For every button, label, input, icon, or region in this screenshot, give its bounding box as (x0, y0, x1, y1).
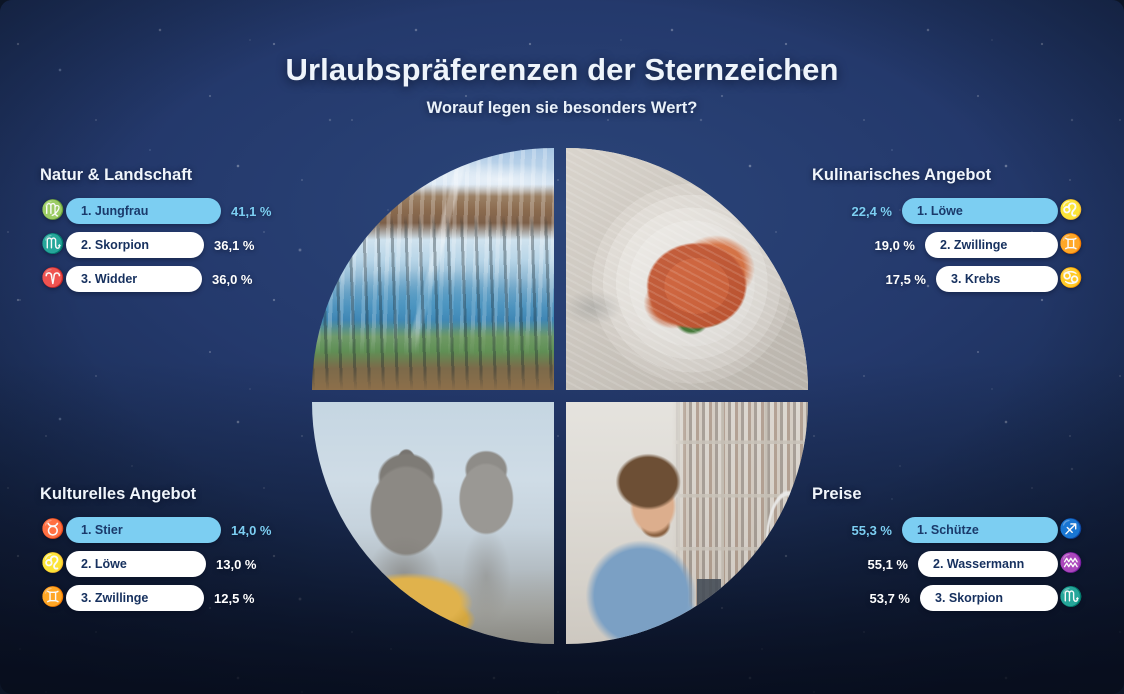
rank-percentage: 53,7 % (854, 591, 910, 606)
panel-title: Kulturelles Angebot (40, 485, 312, 504)
rank-percentage: 14,0 % (231, 523, 287, 538)
ranking-row[interactable]: ♌ 1. Löwe 22,4 % (836, 198, 1084, 224)
rank-pill[interactable]: 1. Jungfrau (66, 198, 221, 224)
taurus-icon: ♉ (40, 517, 66, 543)
panel-title: Preise (812, 485, 1084, 504)
price-photo (566, 402, 808, 644)
page-title: Urlaubspräferenzen der Sternzeichen (0, 52, 1124, 88)
rank-pill[interactable]: 3. Widder (66, 266, 202, 292)
ranking-list: ♉ 1. Stier 14,0 % ♌ 2. Löwe 13,0 % ♊ 3. … (40, 517, 312, 611)
rank-pill[interactable]: 3. Krebs (936, 266, 1058, 292)
panel-title: Natur & Landschaft (40, 166, 312, 185)
rank-percentage: 36,0 % (212, 272, 268, 287)
rank-pill[interactable]: 2. Zwillinge (925, 232, 1058, 258)
ranking-list: ♌ 1. Löwe 22,4 % ♊ 2. Zwillinge 19,0 % ♋… (812, 198, 1084, 292)
gemini-icon: ♊ (40, 585, 66, 611)
rank-percentage: 41,1 % (231, 204, 287, 219)
food-photo-image (566, 148, 808, 390)
ranking-row[interactable]: ♐ 1. Schütze 55,3 % (836, 517, 1084, 543)
gemini-icon: ♊ (1058, 232, 1084, 258)
aquarius-icon: ♒ (1058, 551, 1084, 577)
food-photo (566, 148, 808, 390)
rank-pill[interactable]: 1. Schütze (902, 517, 1058, 543)
leo-icon: ♌ (40, 551, 66, 577)
rank-percentage: 19,0 % (859, 238, 915, 253)
center-photo-collage (312, 148, 808, 644)
ranking-row[interactable]: ♊ 2. Zwillinge 19,0 % (859, 232, 1084, 258)
rank-percentage: 55,1 % (852, 557, 908, 572)
rank-percentage: 55,3 % (836, 523, 892, 538)
nature-photo (312, 148, 554, 390)
ranking-row[interactable]: ♋ 3. Krebs 17,5 % (870, 266, 1084, 292)
culture-photo (312, 402, 554, 644)
ranking-row[interactable]: ♏ 3. Skorpion 53,7 % (854, 585, 1084, 611)
ranking-row[interactable]: ♍ 1. Jungfrau 41,1 % (40, 198, 287, 224)
cancer-icon: ♋ (1058, 266, 1084, 292)
rank-percentage: 17,5 % (870, 272, 926, 287)
panel-preise: Preise ♐ 1. Schütze 55,3 % ♒ 2. Wasserma… (812, 485, 1084, 611)
scorpio-icon: ♏ (40, 232, 66, 258)
ranking-row[interactable]: ♒ 2. Wassermann 55,1 % (852, 551, 1084, 577)
rank-pill[interactable]: 2. Löwe (66, 551, 206, 577)
rank-pill[interactable]: 1. Stier (66, 517, 221, 543)
header: Urlaubspräferenzen der Sternzeichen Wora… (0, 52, 1124, 118)
panel-title: Kulinarisches Angebot (812, 166, 1084, 185)
aries-icon: ♈ (40, 266, 66, 292)
ranking-row[interactable]: ♌ 2. Löwe 13,0 % (40, 551, 272, 577)
ranking-row[interactable]: ♊ 3. Zwillinge 12,5 % (40, 585, 270, 611)
panel-kulturelles-angebot: Kulturelles Angebot ♉ 1. Stier 14,0 % ♌ … (40, 485, 312, 611)
panel-kulinarisches-angebot: Kulinarisches Angebot ♌ 1. Löwe 22,4 % ♊… (812, 166, 1084, 292)
sagittarius-icon: ♐ (1058, 517, 1084, 543)
rank-pill[interactable]: 2. Wassermann (918, 551, 1058, 577)
rank-percentage: 22,4 % (836, 204, 892, 219)
rank-pill[interactable]: 2. Skorpion (66, 232, 204, 258)
price-photo-image (566, 402, 808, 644)
virgo-icon: ♍ (40, 198, 66, 224)
panel-natur-landschaft: Natur & Landschaft ♍ 1. Jungfrau 41,1 % … (40, 166, 312, 292)
rank-percentage: 12,5 % (214, 591, 270, 606)
ranking-row[interactable]: ♉ 1. Stier 14,0 % (40, 517, 287, 543)
ranking-list: ♍ 1. Jungfrau 41,1 % ♏ 2. Skorpion 36,1 … (40, 198, 312, 292)
page-subtitle: Worauf legen sie besonders Wert? (0, 99, 1124, 118)
scorpio-icon: ♏ (1058, 585, 1084, 611)
culture-photo-image (312, 402, 554, 644)
infographic-canvas: Urlaubspräferenzen der Sternzeichen Wora… (0, 0, 1124, 694)
ranking-row[interactable]: ♈ 3. Widder 36,0 % (40, 266, 268, 292)
rank-percentage: 36,1 % (214, 238, 270, 253)
nature-photo-image (312, 148, 554, 390)
rank-pill[interactable]: 1. Löwe (902, 198, 1058, 224)
ranking-row[interactable]: ♏ 2. Skorpion 36,1 % (40, 232, 270, 258)
rank-percentage: 13,0 % (216, 557, 272, 572)
ranking-list: ♐ 1. Schütze 55,3 % ♒ 2. Wassermann 55,1… (812, 517, 1084, 611)
rank-pill[interactable]: 3. Zwillinge (66, 585, 204, 611)
leo-icon: ♌ (1058, 198, 1084, 224)
rank-pill[interactable]: 3. Skorpion (920, 585, 1058, 611)
